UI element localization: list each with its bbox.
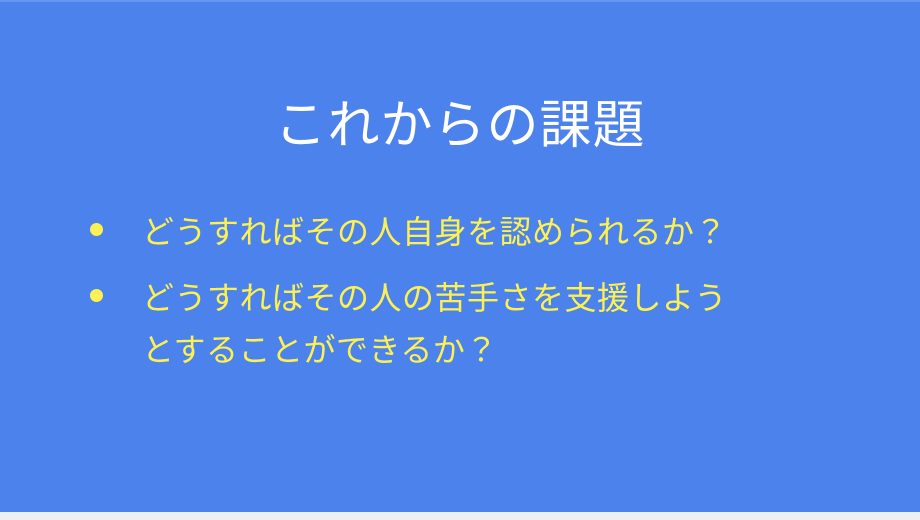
list-item-text: どうすればその人の苦手さを支援しよう とすることができるか？ [142,272,850,376]
list-item: どうすればその人自身を認められるか？ [90,206,850,258]
list-item-line: とすることができるか？ [142,324,850,376]
list-item-line: どうすればその人自身を認められるか？ [142,206,850,258]
slide-bottom-edge [0,512,920,520]
presentation-slide: これからの課題 どうすればその人自身を認められるか？ どうすればその人の苦手さを… [0,0,920,520]
list-item: どうすればその人の苦手さを支援しよう とすることができるか？ [90,272,850,376]
slide-top-edge [0,0,920,2]
bullet-dot-icon [90,289,103,302]
list-item-text: どうすればその人自身を認められるか？ [142,206,850,258]
bullet-list: どうすればその人自身を認められるか？ どうすればその人の苦手さを支援しよう とす… [90,206,850,390]
slide-title: これからの課題 [0,92,920,160]
list-item-line: どうすればその人の苦手さを支援しよう [142,272,850,324]
bullet-dot-icon [90,223,103,236]
